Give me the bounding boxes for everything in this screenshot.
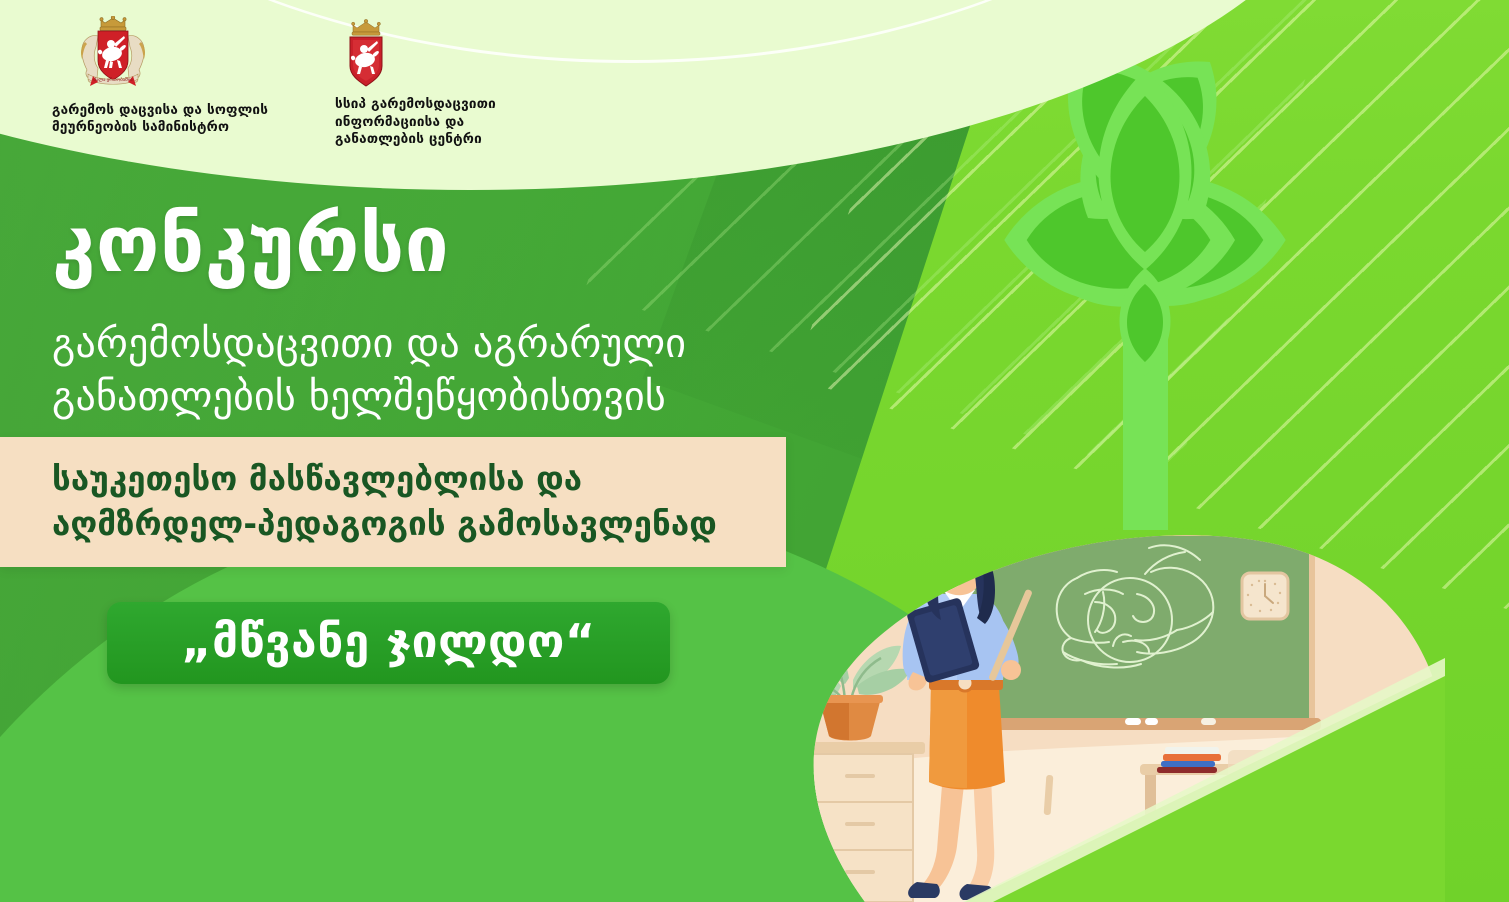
svg-text:ძალა ერთობაშია: ძალა ერთობაშია bbox=[93, 78, 133, 83]
ministry-logo-block: ძალა ერთობაშია გარემოს დაცვისა და სოფლის… bbox=[52, 16, 312, 137]
page-subtitle: გარემოსდაცვითი და აგრარული განათლების ხე… bbox=[52, 318, 686, 424]
page-title: კონკურსი bbox=[52, 206, 449, 286]
center-logo-caption: სსიპ გარემოსდაცვითი ინფორმაციისა და განა… bbox=[335, 96, 575, 149]
drawer-cabinet bbox=[765, 742, 925, 902]
award-name-label: „მწვანე ჯილდო“ bbox=[181, 618, 595, 668]
georgia-coat-of-arms-icon: ძალა ერთობაშია bbox=[52, 16, 312, 96]
award-name-pill: „მწვანე ჯილდო“ bbox=[107, 602, 670, 684]
classroom-illustration bbox=[745, 490, 1445, 902]
poster-canvas: ძალა ერთობაშია გარემოს დაცვისა და სოფლის… bbox=[0, 0, 1509, 902]
beige-highlight-panel: საუკეთესო მასწავლებლისა და აღმზრდელ-პედა… bbox=[0, 437, 786, 567]
environmental-info-center-emblem-icon bbox=[335, 18, 575, 90]
wall-clock bbox=[1242, 573, 1288, 619]
logo-row: ძალა ერთობაშია გარემოს დაცვისა და სოფლის… bbox=[0, 0, 700, 160]
ministry-logo-caption: გარემოს დაცვისა და სოფლის მეურნეობის სამ… bbox=[52, 102, 312, 137]
center-logo-block: სსიპ გარემოსდაცვითი ინფორმაციისა და განა… bbox=[335, 18, 575, 149]
book-stack bbox=[1157, 747, 1221, 773]
beige-panel-text: საუკეთესო მასწავლებლისა და აღმზრდელ-პედა… bbox=[0, 457, 717, 546]
